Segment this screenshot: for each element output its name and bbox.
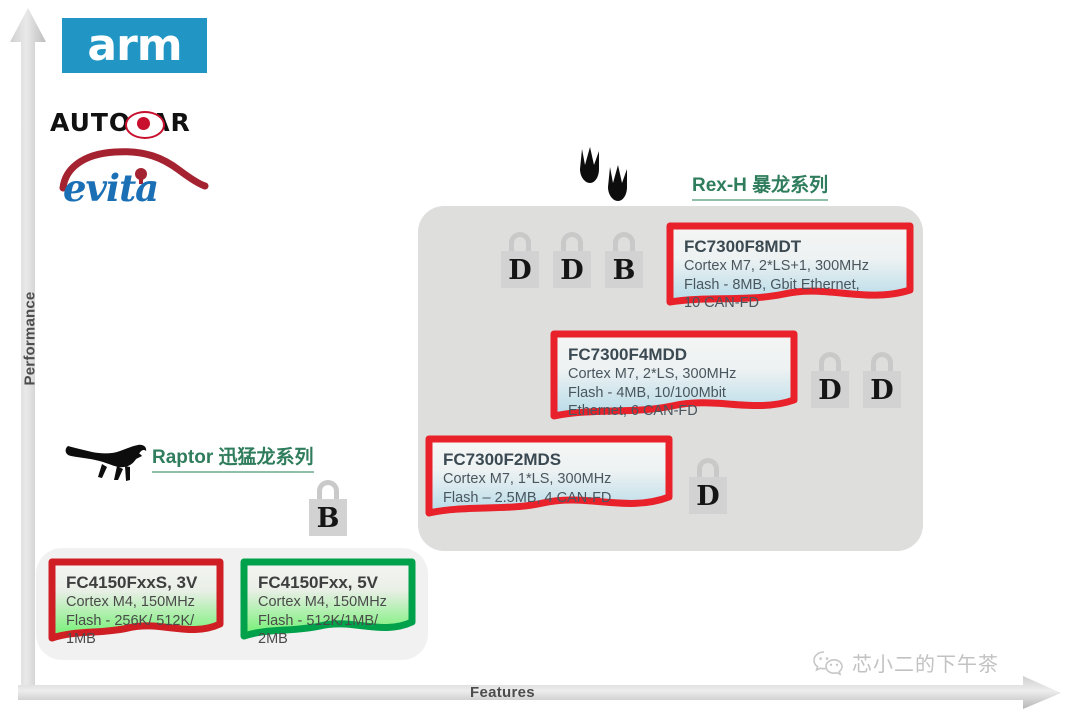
padlock-letter: B: [613, 257, 636, 284]
evita-logo-text: evita: [63, 166, 158, 210]
card-spec-line: 2MB: [258, 630, 404, 649]
arm-logo: arm: [62, 18, 207, 73]
card-spec-line: Flash – 2.5MB, 4 CAN-FD: [443, 489, 661, 508]
autosar-logo-text: AUTOSAR: [50, 108, 191, 137]
card-spec-line: Flash - 8MB, Gbit Ethernet,: [684, 276, 902, 295]
padlock-letter: D: [870, 377, 893, 404]
product-card-fc7300f2mds[interactable]: FC7300F2MDS Cortex M7, 1*LS, 300MHz Flas…: [425, 435, 673, 525]
dino-footprints-icon: [568, 143, 648, 210]
card-spec-line: Flash - 256K/ 512K/: [66, 612, 212, 631]
lock-rex-3: B: [602, 232, 646, 288]
card-text: FC4150FxxS, 3V Cortex M4, 150MHz Flash -…: [66, 572, 212, 649]
lock-rex-5: D: [860, 352, 904, 408]
product-card-fc4150fxxs-3v[interactable]: FC4150FxxS, 3V Cortex M4, 150MHz Flash -…: [48, 558, 224, 650]
autosar-ring-icon: [125, 111, 165, 139]
watermark-text: 芯小二的下午茶: [852, 648, 999, 677]
arm-logo-text: arm: [87, 24, 181, 68]
card-title: FC7300F2MDS: [443, 449, 661, 470]
diagram-canvas: Performance Features arm AUTOSAR evit: [0, 0, 1080, 715]
card-title: FC4150Fxx, 5V: [258, 572, 404, 593]
padlock-letter: D: [560, 257, 583, 284]
padlock-letter: B: [317, 505, 340, 532]
card-spec-line: 1MB: [66, 630, 212, 649]
padlock-letter: D: [508, 257, 531, 284]
card-spec-line: Flash - 4MB, 10/100Mbit: [568, 384, 786, 403]
card-title: FC7300F4MDD: [568, 344, 786, 365]
card-spec-line: Cortex M7, 2*LS, 300MHz: [568, 365, 786, 384]
card-text: FC4150Fxx, 5V Cortex M4, 150MHz Flash - …: [258, 572, 404, 649]
lock-raptor-1: B: [306, 480, 350, 536]
wechat-icon: [812, 650, 844, 676]
padlock-body-icon: D: [501, 251, 539, 288]
product-card-fc4150fxx-5v[interactable]: FC4150Fxx, 5V Cortex M4, 150MHz Flash - …: [240, 558, 416, 650]
card-text: FC7300F4MDD Cortex M7, 2*LS, 300MHz Flas…: [568, 344, 786, 421]
evita-logo: evita: [55, 148, 215, 208]
card-spec-line: Cortex M4, 150MHz: [66, 593, 212, 612]
performance-axis-label: Performance: [22, 279, 39, 399]
card-title: FC4150FxxS, 3V: [66, 572, 212, 593]
product-card-fc7300f4mdd[interactable]: FC7300F4MDD Cortex M7, 2*LS, 300MHz Flas…: [550, 330, 798, 428]
card-spec-line: 10 CAN-FD: [684, 294, 902, 313]
padlock-body-icon: B: [605, 251, 643, 288]
card-spec-line: Cortex M7, 2*LS+1, 300MHz: [684, 257, 902, 276]
card-spec-line: Cortex M4, 150MHz: [258, 593, 404, 612]
features-axis-label: Features: [470, 684, 535, 701]
card-spec-line: Ethernet, 6 CAN-FD: [568, 402, 786, 421]
raptor-dino-icon: [62, 440, 148, 491]
padlock-body-icon: B: [309, 499, 347, 536]
padlock-letter: D: [696, 483, 719, 510]
product-card-fc7300f8mdt[interactable]: FC7300F8MDT Cortex M7, 2*LS+1, 300MHz Fl…: [666, 222, 914, 314]
card-title: FC7300F8MDT: [684, 236, 902, 257]
rex-family-title: Rex-H 暴龙系列: [692, 170, 828, 201]
lock-rex-4: D: [808, 352, 852, 408]
autosar-logo: AUTOSAR: [50, 108, 260, 138]
padlock-letter: D: [818, 377, 841, 404]
card-text: FC7300F8MDT Cortex M7, 2*LS+1, 300MHz Fl…: [684, 236, 902, 313]
padlock-body-icon: D: [689, 477, 727, 514]
card-spec-line: Flash - 512K/1MB/: [258, 612, 404, 631]
card-spec-line: Cortex M7, 1*LS, 300MHz: [443, 470, 661, 489]
card-text: FC7300F2MDS Cortex M7, 1*LS, 300MHz Flas…: [443, 449, 661, 507]
lock-rex-6: D: [686, 458, 730, 514]
raptor-family-title: Raptor 迅猛龙系列: [152, 442, 314, 473]
lock-rex-2: D: [550, 232, 594, 288]
padlock-body-icon: D: [553, 251, 591, 288]
padlock-body-icon: D: [811, 371, 849, 408]
padlock-body-icon: D: [863, 371, 901, 408]
lock-rex-1: D: [498, 232, 542, 288]
features-axis: [18, 676, 1063, 710]
wechat-watermark: 芯小二的下午茶: [812, 648, 999, 677]
